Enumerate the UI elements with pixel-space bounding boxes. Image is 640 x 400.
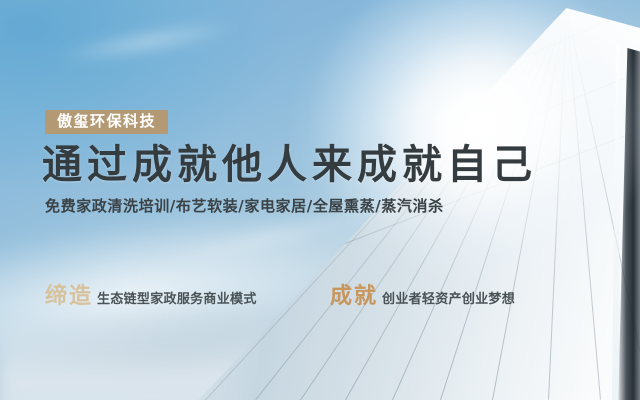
tagline-1-lead: 缔造: [45, 286, 93, 308]
tagline-2-lead: 成就: [330, 286, 378, 308]
tagline-item-1: 缔造 生态链型家政服务商业模式: [45, 286, 330, 308]
promotional-banner: 傲玺环保科技 通过成就他人来成就自己 免费家政清洗培训/布艺软装/家电家居/全屋…: [0, 0, 640, 400]
tagline-1-description: 生态链型家政服务商业模式: [97, 293, 257, 306]
banner-content: 傲玺环保科技 通过成就他人来成就自己 免费家政清洗培训/布艺软装/家电家居/全屋…: [0, 0, 640, 400]
tagline-item-2: 成就 创业者轻资产创业梦想: [330, 286, 515, 308]
tagline-2-description: 创业者轻资产创业梦想: [382, 293, 515, 306]
services-subline: 免费家政清洗培训/布艺软装/家电家居/全屋熏蒸/蒸汽消杀: [45, 199, 444, 214]
tagline-row: 缔造 生态链型家政服务商业模式 成就 创业者轻资产创业梦想: [45, 286, 590, 308]
brand-badge: 傲玺环保科技: [45, 110, 168, 134]
headline-slogan: 通过成就他人来成就自己: [42, 145, 537, 185]
